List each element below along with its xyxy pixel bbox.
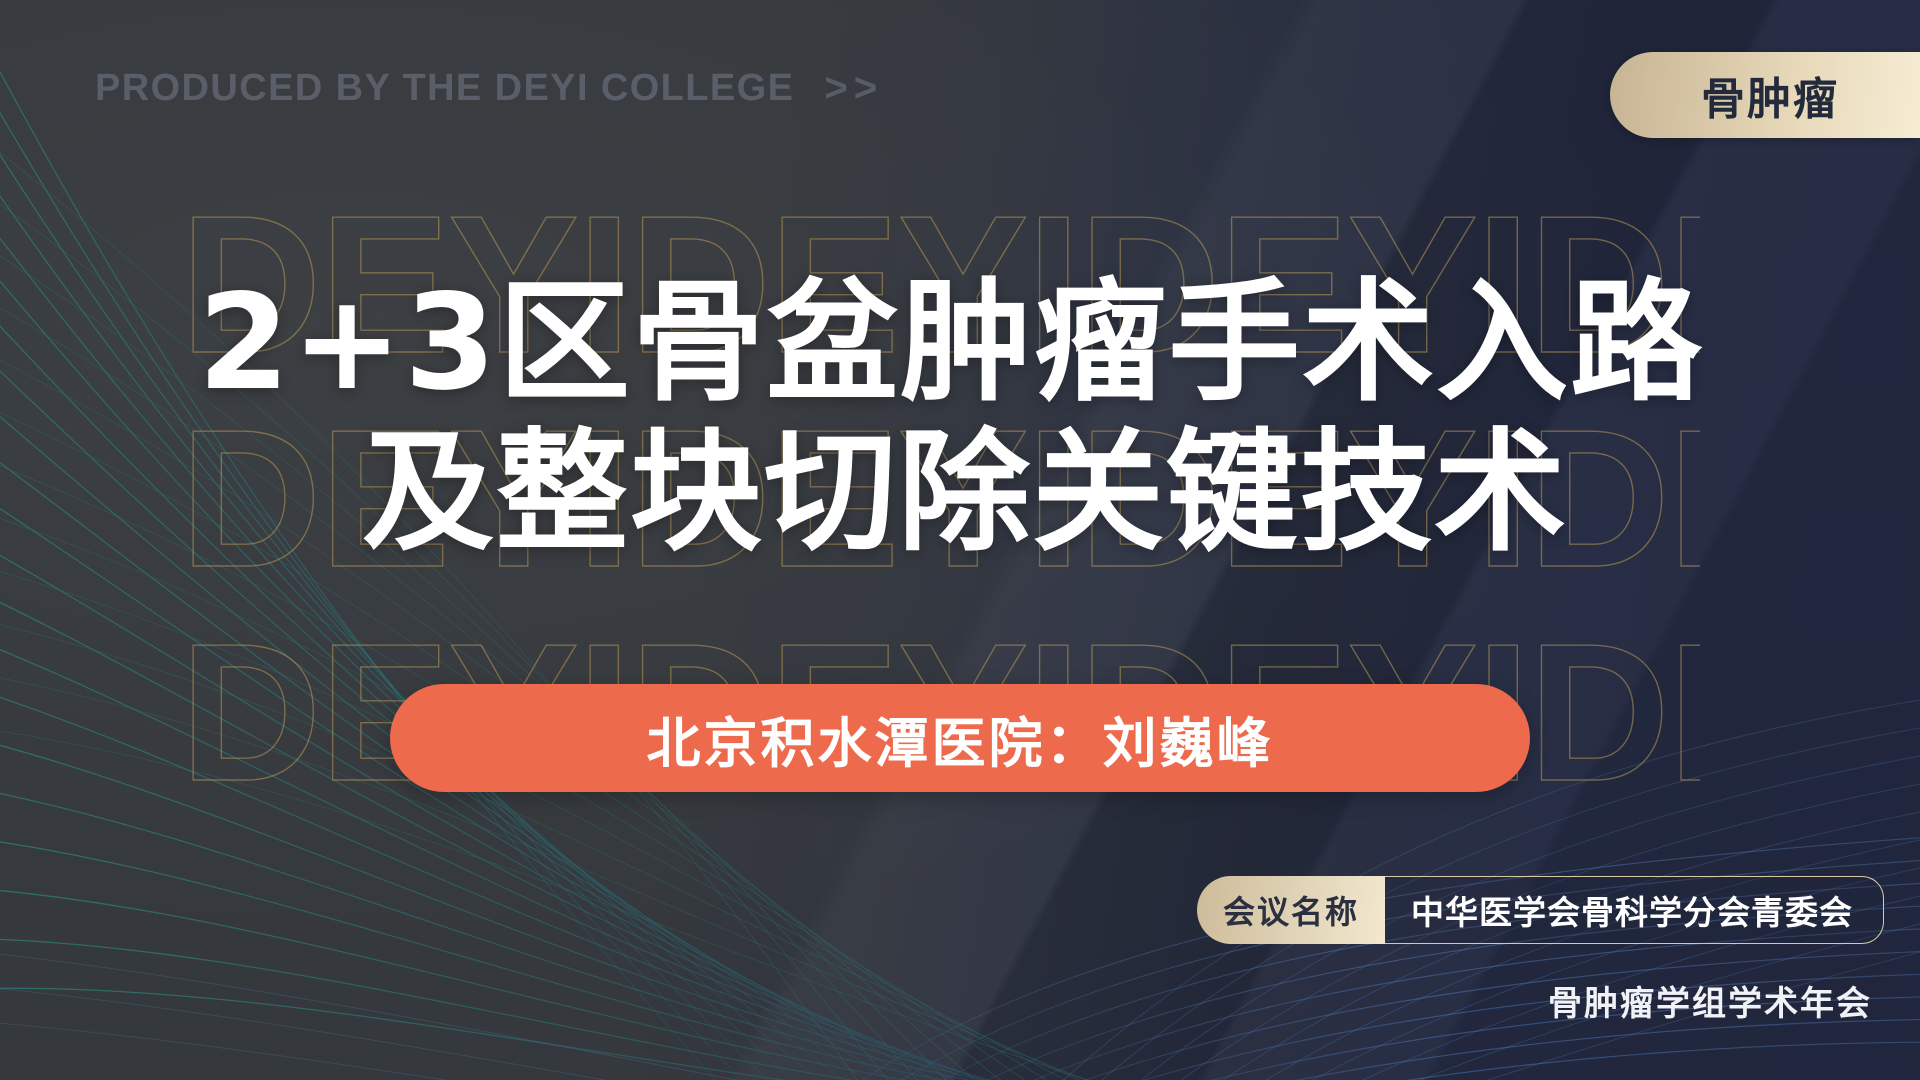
eyebrow: PRODUCED BY THE DEYI COLLEGE >> bbox=[95, 66, 883, 111]
conference-box: 会议名称 中华医学会骨科学分会青委会 bbox=[1197, 876, 1884, 944]
category-badge: 骨肿瘤 bbox=[1610, 52, 1920, 138]
conference-tag: 会议名称 bbox=[1197, 876, 1385, 944]
conference-subline: 骨肿瘤学组学术年会 bbox=[1548, 976, 1872, 1025]
speaker-label: 北京积水潭医院：刘巍峰 bbox=[647, 699, 1274, 778]
slide-canvas: DEYIDEYIDEYIDEYI DEYIDEYIDEYIDEYI DEYIDE… bbox=[0, 0, 1920, 1080]
category-badge-label: 骨肿瘤 bbox=[1701, 63, 1839, 127]
conference-tag-label: 会议名称 bbox=[1223, 887, 1359, 933]
speaker-pill: 北京积水潭医院：刘巍峰 bbox=[390, 684, 1530, 792]
title-line-1: 2+3区骨盆肿瘤手术入路 bbox=[0, 268, 1920, 418]
producer-label: PRODUCED BY THE DEYI COLLEGE bbox=[95, 67, 794, 110]
conference-name-label: 中华医学会骨科学分会青委会 bbox=[1411, 886, 1853, 934]
conference-name: 中华医学会骨科学分会青委会 bbox=[1385, 876, 1884, 944]
chevron-double-right-icon: >> bbox=[824, 66, 883, 111]
page-title: 2+3区骨盆肿瘤手术入路 及整块切除关键技术 bbox=[0, 268, 1920, 568]
title-line-2: 及整块切除关键技术 bbox=[0, 418, 1920, 568]
